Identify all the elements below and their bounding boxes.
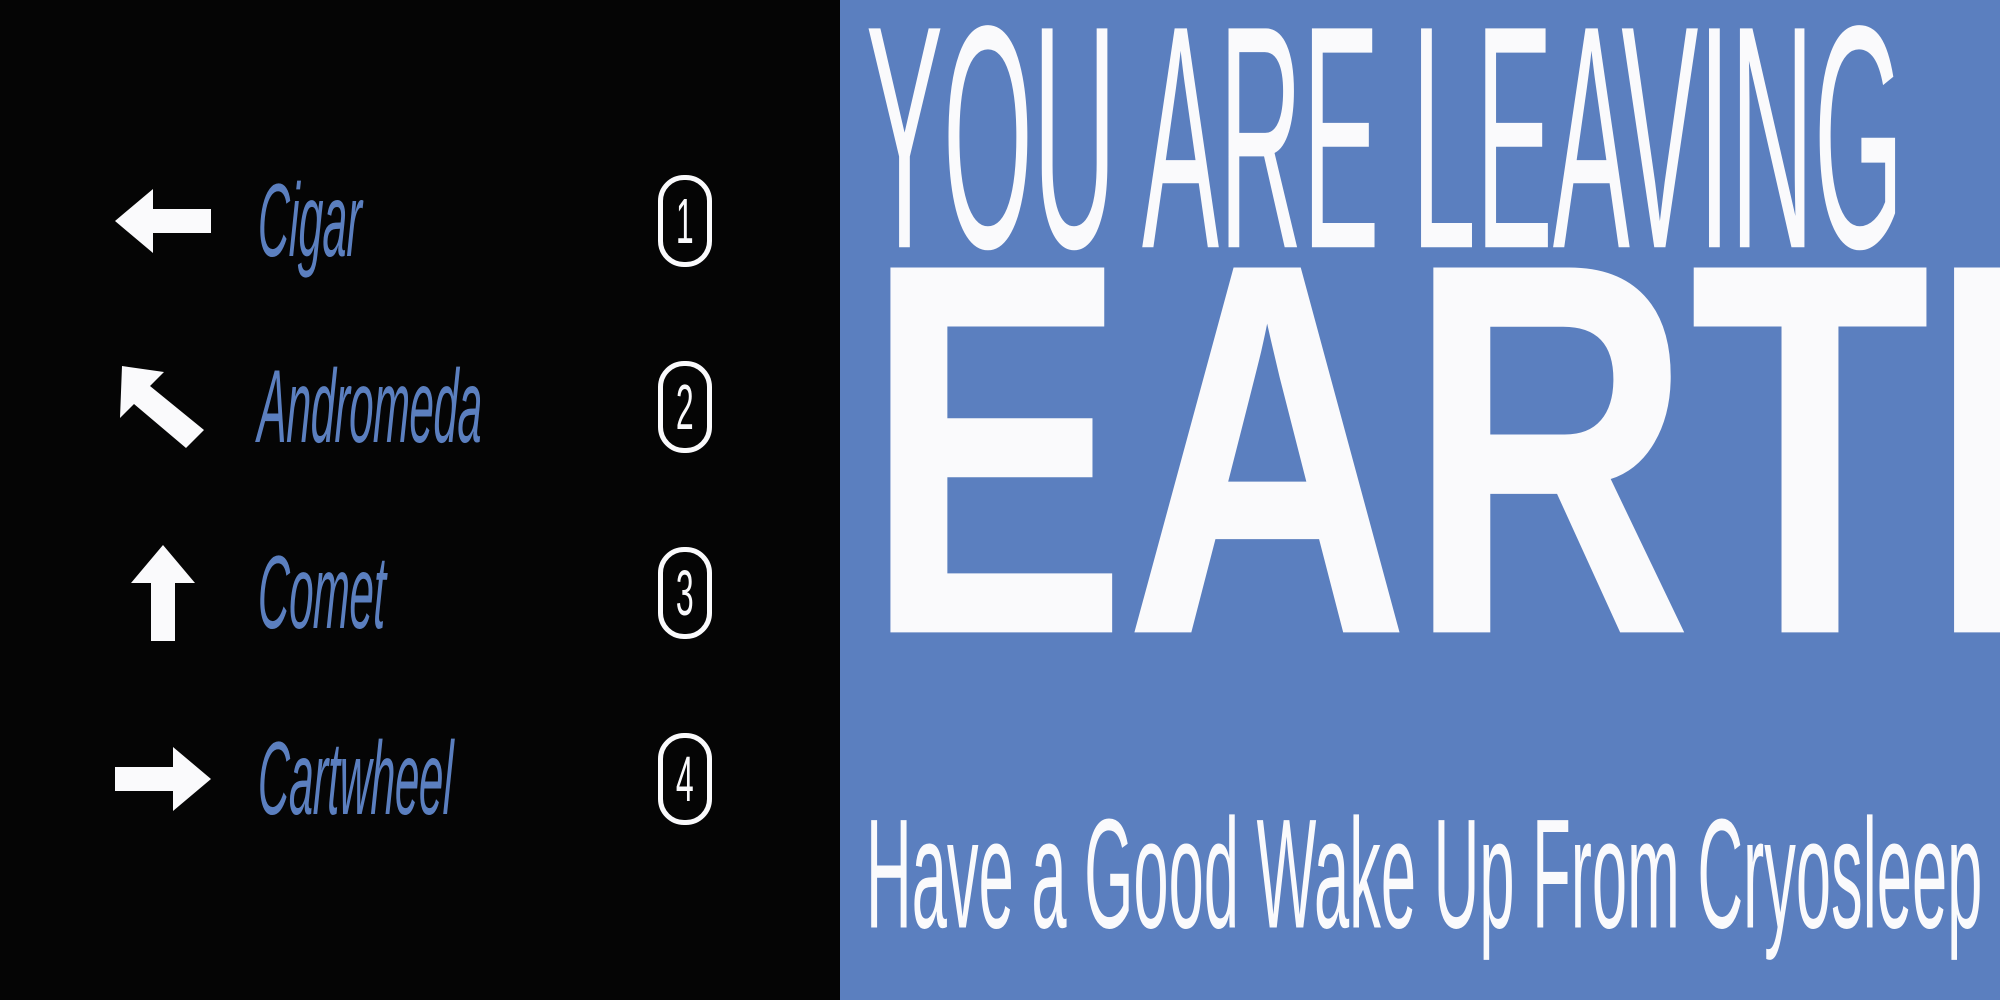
list-item-label: Andromeda	[257, 355, 483, 459]
dark-panel: Cigar 1 Andromeda 2	[0, 0, 840, 1000]
badge-number: 4	[676, 747, 694, 811]
arrow-right-icon	[108, 724, 218, 834]
headline-main: EARTH	[864, 256, 2000, 644]
arrow-up-left-icon	[108, 352, 218, 462]
badge-number: 3	[676, 561, 694, 625]
poster-canvas: Cigar 1 Andromeda 2	[0, 0, 2000, 1000]
list-item[interactable]: Cigar 1	[0, 128, 840, 314]
galaxy-list: Cigar 1 Andromeda 2	[0, 128, 840, 872]
tagline: Have a Good Wake Up From Cryosleep	[866, 812, 1982, 935]
badge-number: 2	[676, 375, 694, 439]
list-item[interactable]: Comet 3	[0, 500, 840, 686]
list-item[interactable]: Cartwheel 4	[0, 686, 840, 872]
status-badge: 1	[658, 175, 712, 267]
status-badge: 2	[658, 361, 712, 453]
status-badge: 3	[658, 547, 712, 639]
arrow-left-icon	[108, 166, 218, 276]
badge-number: 1	[676, 189, 694, 253]
list-item-label: Cartwheel	[257, 727, 454, 831]
status-badge: 4	[658, 733, 712, 825]
list-item[interactable]: Andromeda 2	[0, 314, 840, 500]
list-item-label: Comet	[257, 541, 387, 645]
arrow-up-icon	[108, 538, 218, 648]
blue-panel: YOU ARE LEAVING EARTH Have a Good Wake U…	[840, 0, 2000, 1000]
list-item-label: Cigar	[257, 169, 363, 273]
